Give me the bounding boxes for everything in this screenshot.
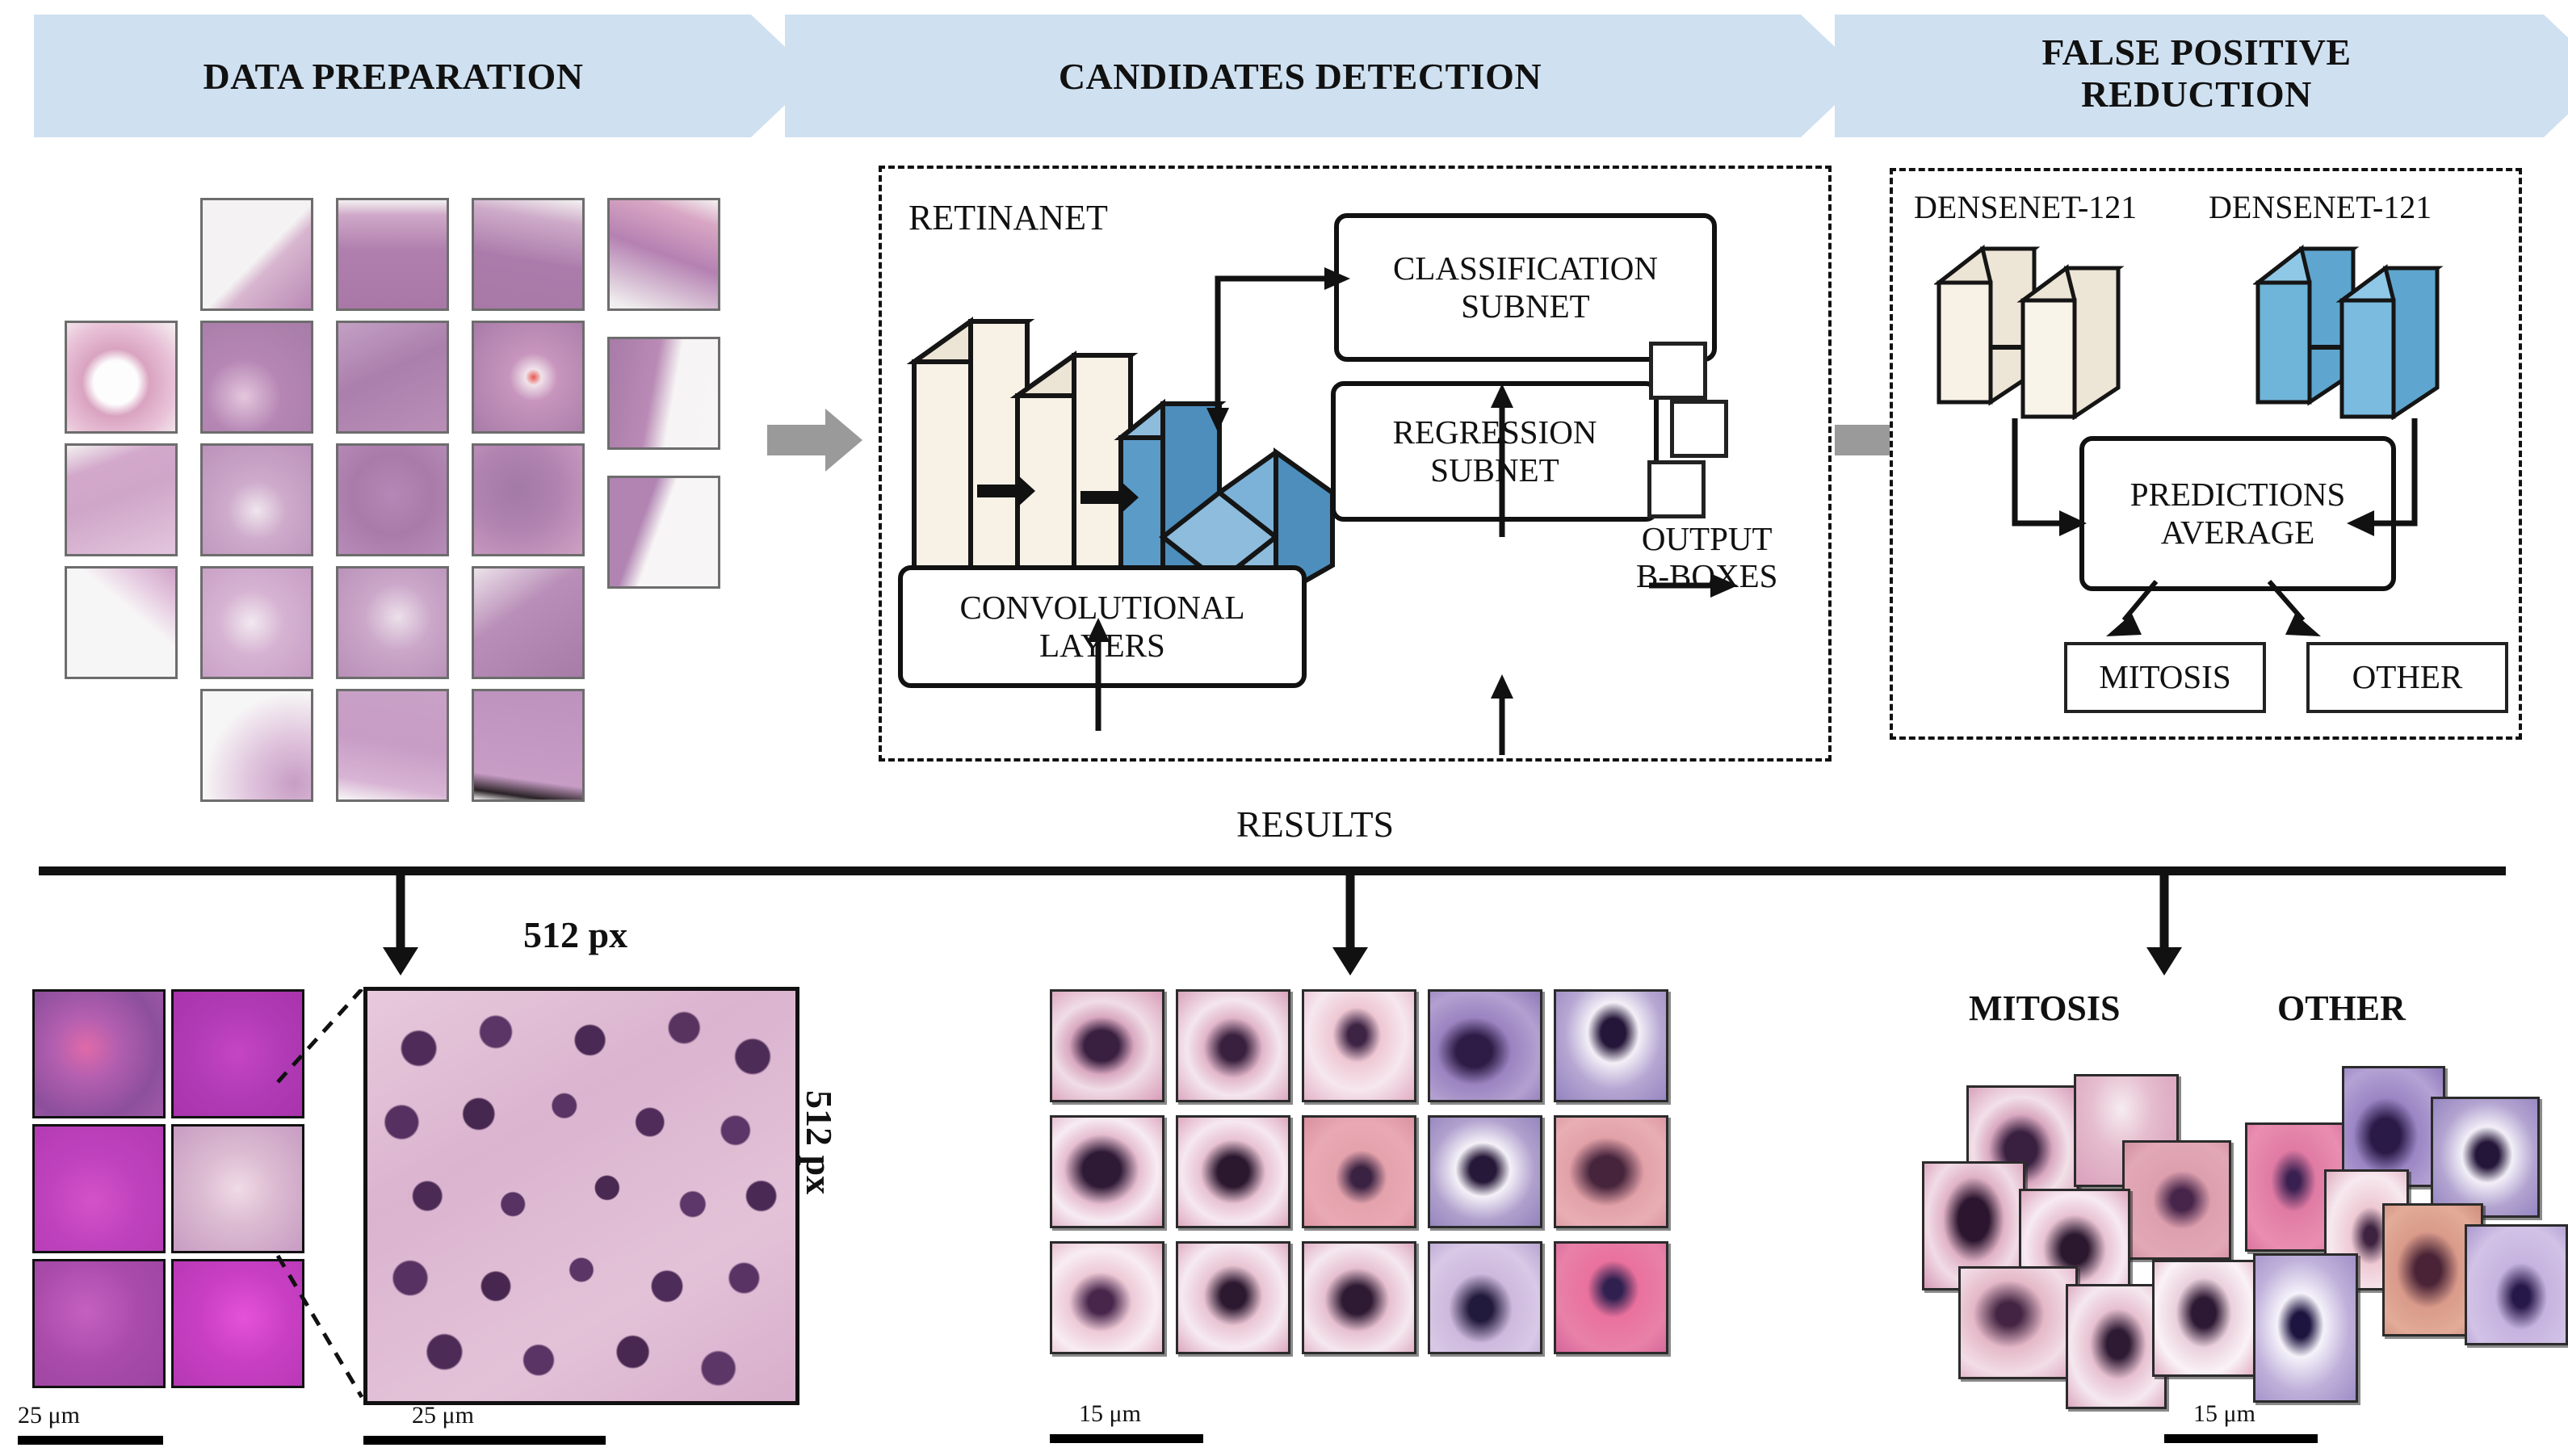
candidate-patch [1176,1241,1290,1354]
scalebar-classified-bar [2164,1434,2318,1443]
wsi-tile [65,443,178,556]
mitosis-cluster-label: MITOSIS [1969,988,2121,1028]
mitosis-cluster [1922,1066,2261,1405]
gray-arrow-prep-to-detection [767,404,864,476]
wsi-tile [472,198,585,311]
wsi-tile [336,443,449,556]
scalebar-classified: 15 μm [2164,1405,2350,1447]
results-down-arrows [0,866,2568,980]
scalebar-wsi-thumbnails-label: 25 μm [18,1402,80,1429]
banner-candidates-detection: CANDIDATES DETECTION [795,15,1805,139]
wsi-tile [472,443,585,556]
scalebar-classified-label: 15 μm [2193,1400,2255,1428]
scalebar-candidates: 15 μm [1050,1405,1236,1447]
region-thumbnail [32,1259,166,1388]
candidate-patch [1050,989,1164,1102]
wsi-tile [336,198,449,311]
region-thumbnail [32,1124,166,1253]
zoom-guide-lines [266,989,371,1401]
class-output-other-label: OTHER [2352,658,2463,696]
candidate-patch [1176,1115,1290,1228]
patch-width-label: 512 px [523,914,627,956]
scalebar-patch: 25 μm [363,1407,646,1449]
candidate-patch [1302,1241,1416,1354]
candidate-patch-grid [1050,989,1696,1361]
candidate-patch [1428,989,1542,1102]
banner-label-data-preparation: DATA PREPARATION [204,56,584,98]
other-patch [2465,1224,2568,1345]
wsi-tile [200,198,313,311]
banner-label-fpr-line2: REDUCTION [2081,73,2312,115]
scalebar-candidates-label: 15 μm [1079,1400,1141,1428]
banner-label-candidates-detection: CANDIDATES DETECTION [1059,56,1542,98]
other-cluster-label: OTHER [2277,988,2406,1028]
output-bboxes-label: OUTPUT B-BOXES [1636,521,1777,595]
wsi-tile [472,689,585,802]
class-output-other-box: OTHER [2306,642,2508,713]
banner-data-preparation: DATA PREPARATION [34,15,753,139]
banner-false-positive-reduction: FALSE POSITIVE REDUCTION [1849,8,2544,139]
wsi-tile [65,566,178,679]
results-section-label: RESULTS [1236,804,1394,845]
wsi-tile [200,689,313,802]
candidate-patch [1302,1115,1416,1228]
banner-label-fpr-line1: FALSE POSITIVE [2041,31,2351,73]
candidate-patch [1302,989,1416,1102]
candidate-patch [1554,1241,1668,1354]
wsi-tile [472,566,585,679]
patch-height-label: 512 px [798,1090,840,1194]
wsi-tile-mosaic [65,198,735,763]
wsi-tile [200,443,313,556]
candidate-patch [1554,989,1668,1102]
candidate-patch [1428,1115,1542,1228]
scalebar-wsi-thumbnails: 25 μm [18,1407,179,1449]
scalebar-patch-label: 25 μm [412,1402,474,1429]
candidate-patch [1050,1115,1164,1228]
mitosis-patch [2152,1260,2255,1377]
magnified-patch [363,987,799,1405]
wsi-tile [472,321,585,434]
wsi-tile [607,476,720,589]
output-bboxes-line2: B-BOXES [1636,558,1777,595]
candidate-patch [1176,989,1290,1102]
output-bboxes-line1: OUTPUT [1636,521,1777,558]
candidate-patch [1428,1241,1542,1354]
class-output-mitosis-label: MITOSIS [2099,658,2230,696]
other-patch [2253,1253,2358,1403]
candidate-patch [1050,1241,1164,1354]
output-bbox-square [1670,400,1728,458]
wsi-tile [607,198,720,311]
other-cluster [2245,1066,2568,1405]
wsi-tile [200,321,313,434]
wsi-tile [65,321,178,434]
region-thumbnail [32,989,166,1118]
candidate-patch [1554,1115,1668,1228]
mitosis-patch [2122,1140,2231,1260]
scalebar-wsi-thumbnails-bar [18,1436,163,1445]
wsi-tile [336,689,449,802]
other-patch [2431,1097,2540,1218]
output-bbox-square [1649,342,1707,400]
wsi-tile [336,321,449,434]
wsi-tile [200,566,313,679]
scalebar-patch-bar [363,1436,606,1445]
mitosis-patch [1958,1266,2078,1379]
output-bbox-square [1647,460,1706,518]
wsi-tile [607,337,720,450]
wsi-tile [336,566,449,679]
class-output-mitosis-box: MITOSIS [2064,642,2266,713]
scalebar-candidates-bar [1050,1434,1203,1443]
